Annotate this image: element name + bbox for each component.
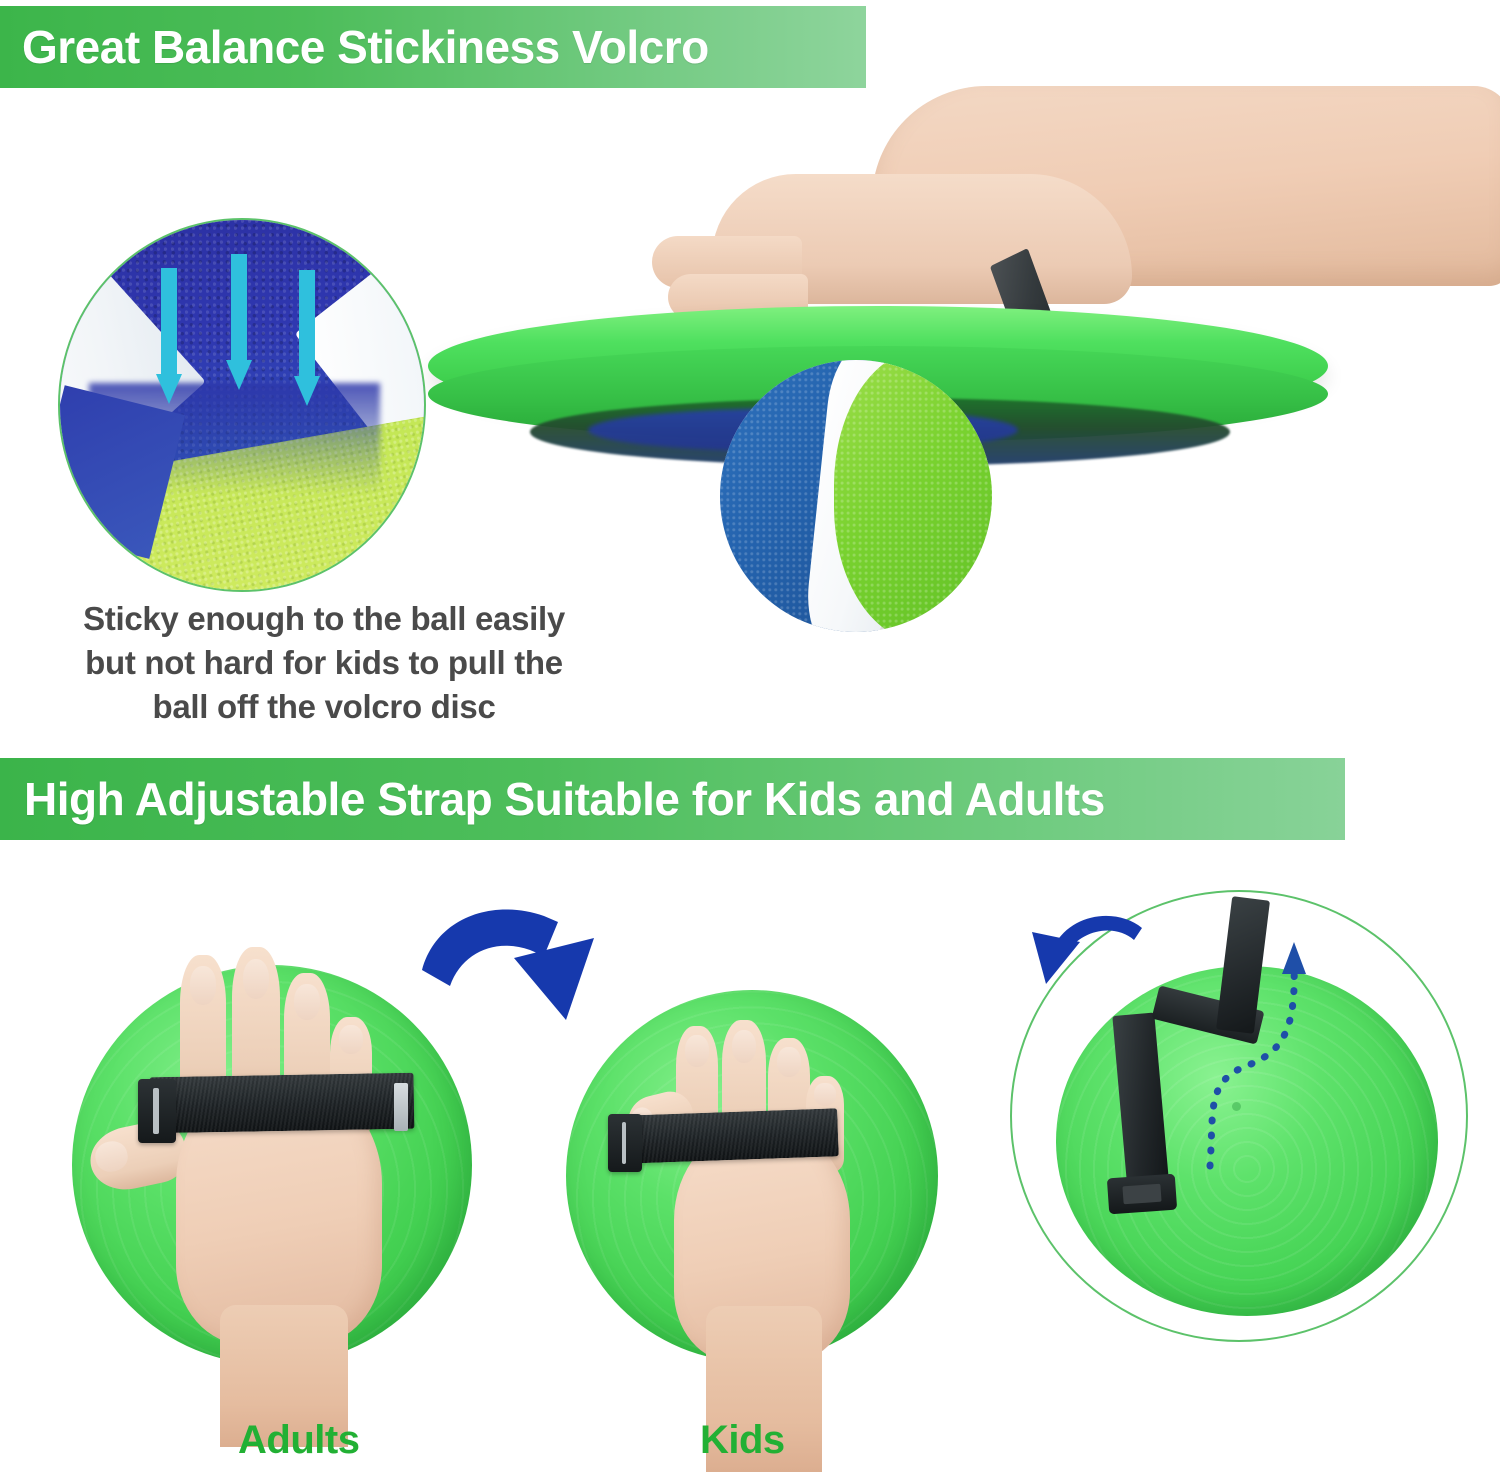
velcro-caption: Sticky enough to the ball easily but not… (14, 597, 634, 729)
velcro-ball (720, 360, 992, 632)
velcro-closeup-circle (58, 218, 426, 592)
panel-adults: Adults (72, 965, 472, 1365)
strap-buckle-kids (608, 1114, 642, 1172)
label-adults-text: Adults (238, 1418, 359, 1463)
banner-top-text: Great Balance Stickiness Volcro (22, 20, 709, 74)
hero-illustration-hand-disc-ball (420, 78, 1500, 668)
banner-middle-text: High Adjustable Strap Suitable for Kids … (24, 772, 1105, 826)
dotted-path-arrow-icon (1188, 940, 1348, 1170)
panel-strap-adjustment (1002, 880, 1478, 1360)
label-kids-text: Kids (700, 1418, 785, 1463)
caption-line-2: but not hard for kids to pull the (14, 641, 634, 685)
hand-strap-adults (150, 1073, 415, 1134)
panel-kids (566, 990, 938, 1362)
hand-strap-kids (621, 1108, 839, 1164)
caption-line-1: Sticky enough to the ball easily (14, 597, 634, 641)
strap-buckle-detail (1107, 1174, 1177, 1215)
caption-line-3: ball off the volcro disc (14, 685, 634, 729)
banner-high-adjustable-strap: High Adjustable Strap Suitable for Kids … (0, 758, 1345, 840)
strap-buckle-adults (138, 1079, 176, 1143)
solid-curved-arrow-icon (1014, 906, 1194, 1056)
banner-great-balance-stickiness: Great Balance Stickiness Volcro (0, 6, 866, 88)
ball-green-section (834, 360, 992, 632)
strap-tip-adults (394, 1083, 408, 1131)
